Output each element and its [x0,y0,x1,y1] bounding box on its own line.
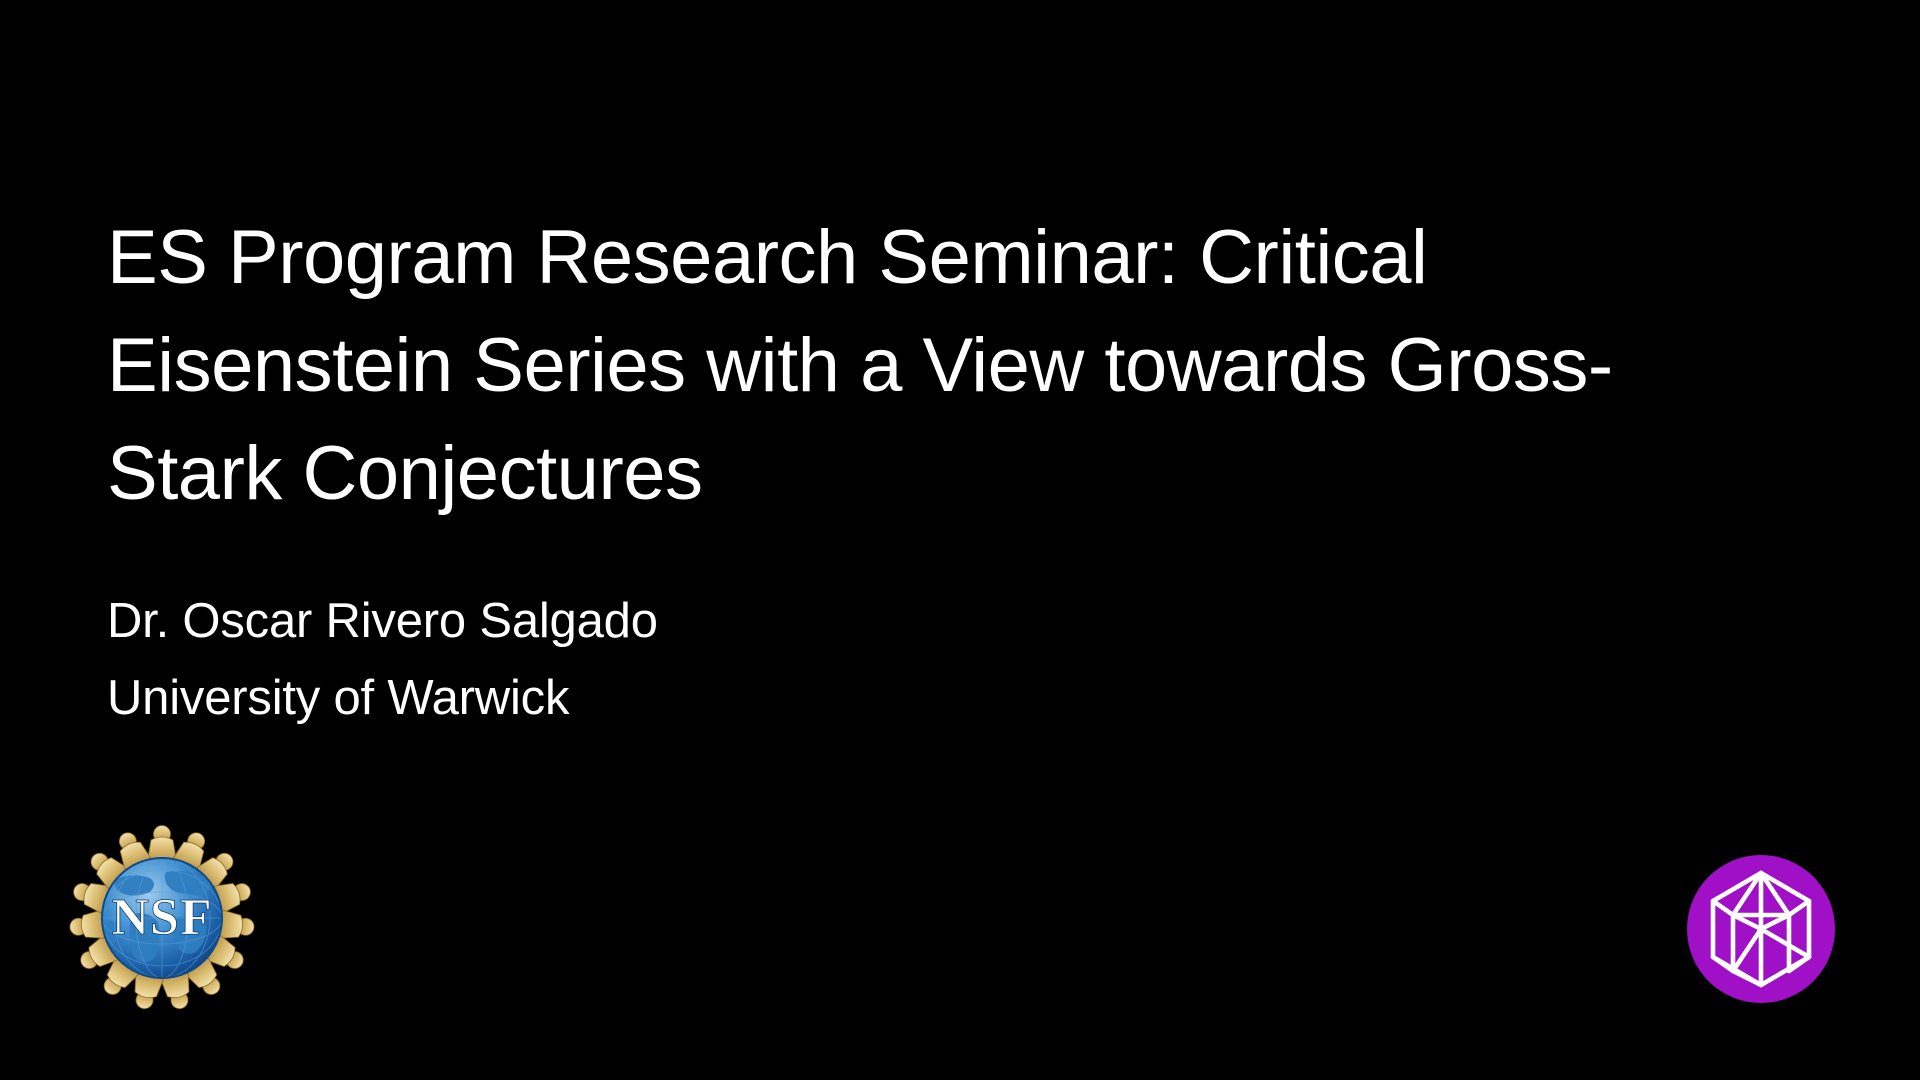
slide-canvas: ES Program Research Seminar: Critical Ei… [0,0,1920,1080]
speaker-block: Dr. Oscar Rivero Salgado University of W… [107,583,1307,737]
nsf-wordmark: NSF [111,889,212,946]
hexagon-logo [1687,855,1835,1003]
title-line-1: ES Program Research Seminar: Critical [107,204,1737,312]
page-title: ES Program Research Seminar: Critical Ei… [107,204,1737,528]
nsf-logo: NSF [62,818,262,1018]
title-line-2: Eisenstein Series with a View towards Gr… [107,312,1737,420]
speaker-name: Dr. Oscar Rivero Salgado [107,583,1307,660]
speaker-affiliation: University of Warwick [107,660,1307,737]
title-line-3: Stark Conjectures [107,420,1737,528]
